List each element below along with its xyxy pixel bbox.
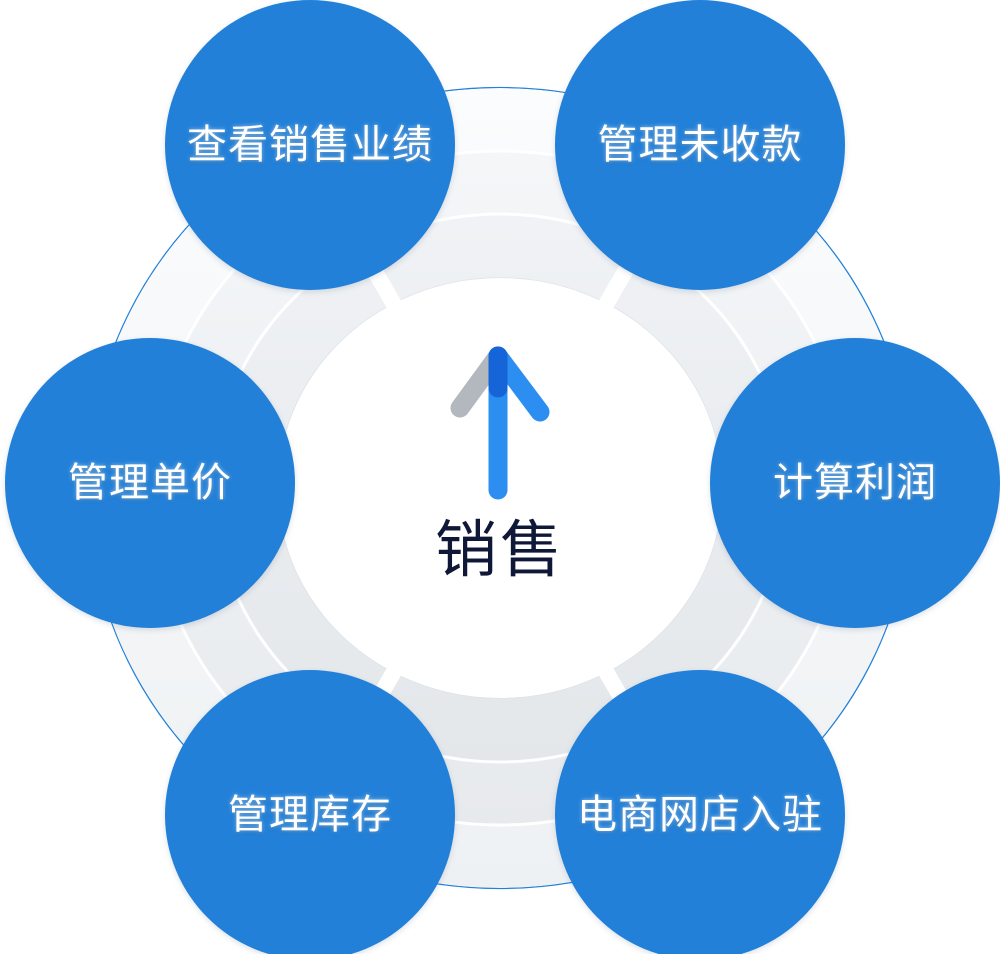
node-label: 管理未收款 <box>598 123 803 167</box>
node-label: 计算利润 <box>773 461 937 505</box>
node-manage-receivables[interactable]: 管理未收款 <box>555 0 845 290</box>
node-calculate-profit[interactable]: 计算利润 <box>710 338 1000 628</box>
node-manage-unit-price[interactable]: 管理单价 <box>5 338 295 628</box>
node-view-sales-performance[interactable]: 查看销售业绩 <box>165 0 455 290</box>
up-arrow-icon <box>440 330 560 510</box>
node-label: 管理库存 <box>228 793 392 837</box>
node-label: 电商网店入驻 <box>577 793 823 837</box>
node-manage-inventory[interactable]: 管理库存 <box>165 670 455 954</box>
center-title: 销售 <box>435 520 565 582</box>
node-label: 管理单价 <box>68 461 232 505</box>
node-label: 查看销售业绩 <box>187 123 433 167</box>
diagram-canvas: 销售 查看销售业绩 管理未收款 计算利润 电商网店入驻 管理库存 管理单价 <box>0 0 1000 954</box>
node-ecommerce-store-entry[interactable]: 电商网店入驻 <box>555 670 845 954</box>
center-group: 销售 <box>380 330 620 620</box>
